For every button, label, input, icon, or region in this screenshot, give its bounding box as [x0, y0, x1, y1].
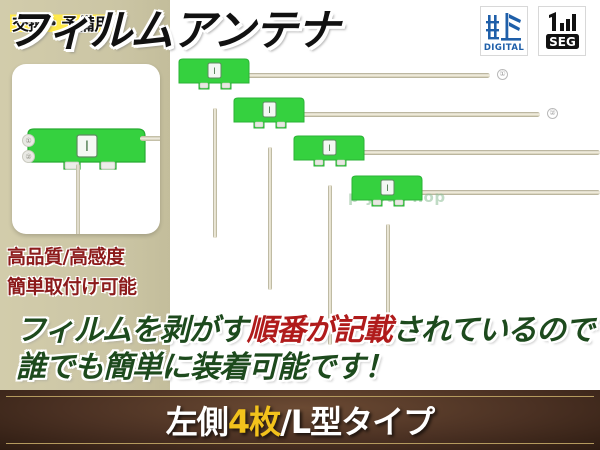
antenna-marker-1: ① — [497, 69, 508, 80]
banner-text: 左側4枚/L型タイプ — [166, 397, 434, 443]
antenna-film-4: I — [348, 175, 428, 227]
page-title: フィルムアンテナ — [6, 0, 339, 58]
banner-part-b: /L型タイプ — [280, 403, 434, 441]
svg-text:I: I — [85, 139, 89, 155]
feature-easy-install: 簡単取付け可能 — [7, 272, 137, 299]
oneseg-logo: SEG — [538, 6, 586, 56]
inset-mark-1: ① — [22, 134, 35, 147]
antenna-cable-1 — [245, 73, 490, 78]
svg-text:I: I — [386, 184, 389, 194]
svg-text:I: I — [268, 106, 271, 116]
svg-text:DIGITAL: DIGITAL — [484, 43, 524, 53]
antenna-cable-2 — [300, 112, 540, 117]
inset-mark-dots: ① ② — [22, 134, 35, 166]
svg-text:I: I — [213, 67, 216, 77]
certification-logos: DIGITAL SEG — [480, 6, 586, 56]
inset-closeup-panel: I ① ② — [12, 64, 160, 234]
promo-line-2: 誰でも簡単に装着可能です！ — [16, 342, 393, 386]
inset-mark-2: ② — [22, 150, 35, 163]
svg-text:SEG: SEG — [549, 35, 576, 49]
antenna-cable-3 — [360, 150, 600, 155]
bottom-banner: 左側4枚/L型タイプ — [0, 390, 600, 450]
inset-antenna-film: I — [20, 126, 160, 171]
antenna-marker-2: ② — [547, 108, 558, 119]
feature-quality: 高品質/高感度 — [7, 242, 124, 269]
banner-quantity: 4枚 — [228, 403, 280, 441]
antenna-droop-2 — [268, 147, 272, 290]
inset-cable-horizontal — [140, 136, 160, 141]
inset-cable-vertical — [76, 164, 80, 234]
promo-line1-part-b: されているので — [392, 313, 594, 348]
svg-text:I: I — [328, 144, 331, 154]
antenna-droop-1 — [213, 108, 217, 238]
banner-part-a: 左側 — [166, 403, 228, 441]
product-image-canvas: ① I ② I I I p yous hop — [0, 0, 600, 450]
chidigital-logo: DIGITAL — [480, 6, 528, 56]
